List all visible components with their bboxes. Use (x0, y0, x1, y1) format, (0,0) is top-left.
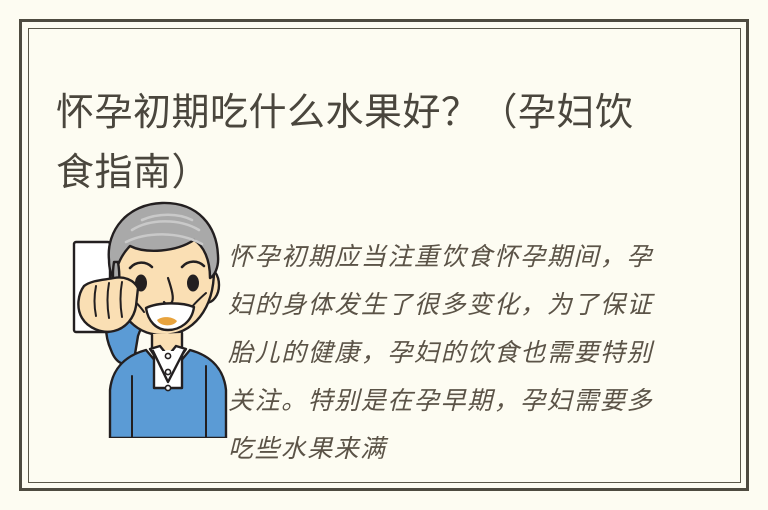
article-body-text: 怀孕初期应当注重饮食怀孕期间，孕妇的身体发生了很多变化，为了保证胎儿的健康，孕妇… (228, 233, 653, 473)
elderly-man-holding-card-illustration (54, 190, 244, 438)
article-content: 怀孕初期应当注重饮食怀孕期间，孕妇的身体发生了很多变化，为了保证胎儿的健康，孕妇… (48, 190, 688, 440)
page-title: 怀孕初期吃什么水果好？（孕妇饮食指南） (56, 83, 656, 203)
article-card-page: 怀孕初期吃什么水果好？（孕妇饮食指南） (0, 0, 768, 510)
